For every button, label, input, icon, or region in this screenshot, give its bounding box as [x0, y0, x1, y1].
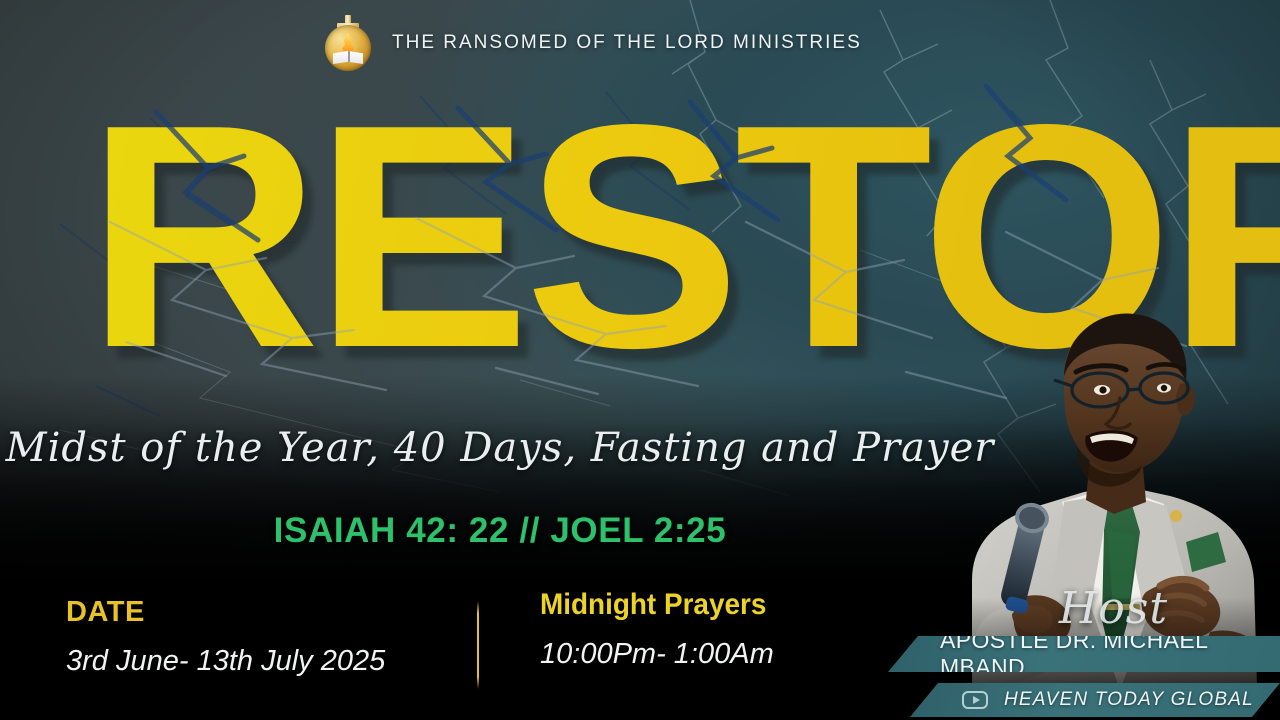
time-column: Midnight Prayers 10:00Pm- 1:00Am	[540, 588, 783, 671]
logo-disc	[325, 25, 371, 71]
channel-name: HEAVEN TODAY GLOBAL	[1004, 689, 1254, 711]
subtitle: Midst of the Year, 40 Days, Fasting and …	[0, 425, 1000, 471]
time-label: Midnight Prayers	[540, 588, 766, 622]
vertical-divider	[477, 601, 479, 689]
date-label: DATE	[66, 596, 385, 629]
time-value: 10:00Pm- 1:00Am	[540, 638, 783, 671]
ministry-logo-icon	[322, 15, 374, 71]
event-details: DATE 3rd June- 13th July 2025 Midnight P…	[0, 570, 920, 720]
host-label: Host	[1059, 583, 1168, 634]
host-name-banner: APOSTLE DR. MICHAEL MBAND	[888, 636, 1280, 672]
open-book-icon	[333, 51, 363, 64]
header: THE RANSOMED OF THE LORD MINISTRIES	[0, 0, 1280, 86]
event-flyer: THE RANSOMED OF THE LORD MINISTRIES REST…	[0, 0, 1280, 720]
scripture-reference: ISAIAH 42: 22 // JOEL 2:25	[0, 511, 1000, 551]
date-column: DATE 3rd June- 13th July 2025	[66, 596, 385, 678]
ministry-name: THE RANSOMED OF THE LORD MINISTRIES	[392, 32, 862, 54]
date-value: 3rd June- 13th July 2025	[66, 645, 385, 678]
youtube-play-icon	[962, 691, 988, 709]
channel-banner[interactable]: HEAVEN TODAY GLOBAL	[910, 683, 1280, 717]
